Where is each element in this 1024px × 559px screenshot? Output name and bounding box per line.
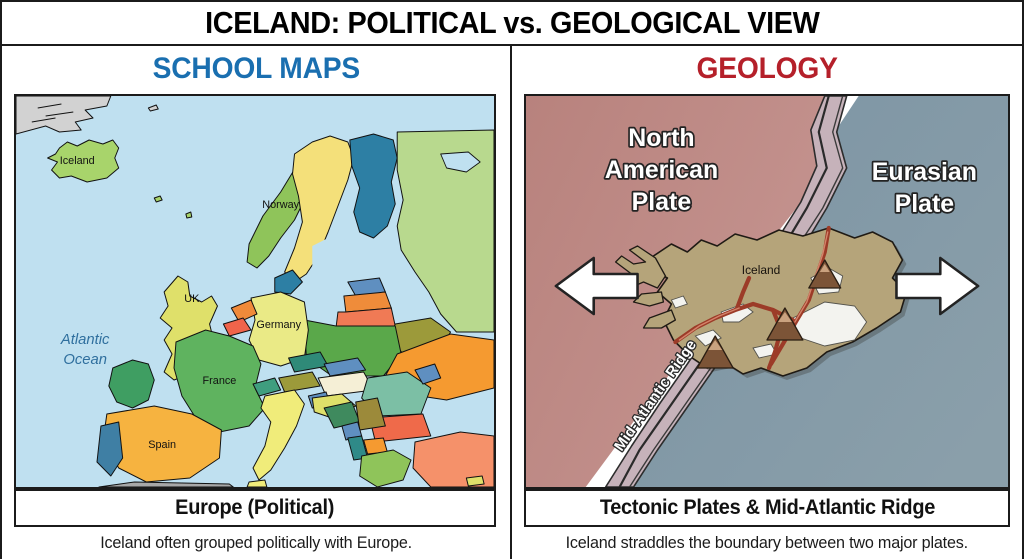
panel-heading-geology-label: GEOLOGY (696, 52, 837, 86)
map-label-norway: Norway (262, 199, 299, 211)
map-label-iceland: Iceland (60, 155, 95, 167)
caption-tectonic-plates: Tectonic Plates & Mid-Atlantic Ridge (599, 496, 934, 520)
panel-school-maps: SCHOOL MAPS (2, 46, 512, 559)
subcaption-europe-text: Iceland often grouped politically with E… (100, 533, 412, 553)
map-label-iceland-geology: Iceland (742, 263, 781, 277)
plate-label-plate-na: Plate (632, 188, 692, 216)
map-label-atlantic-ocean-line1: Atlantic (60, 332, 110, 348)
caption-box-europe: Europe (Political) (14, 489, 496, 527)
page-title: ICELAND: POLITICAL vs. GEOLOGICAL VIEW (205, 5, 819, 41)
panel-heading-geology: GEOLOGY (512, 46, 1022, 92)
caption-europe-political: Europe (Political) (176, 496, 335, 520)
panel-heading-school-maps-label: SCHOOL MAPS (152, 52, 359, 86)
panel-heading-school-maps: SCHOOL MAPS (2, 46, 510, 92)
map-label-germany: Germany (256, 319, 301, 331)
map-label-uk: UK (184, 293, 200, 305)
map-label-france: France (203, 375, 237, 387)
subcaption-geology-text: Iceland straddles the boundary between t… (566, 533, 968, 553)
caption-box-tectonic: Tectonic Plates & Mid-Atlantic Ridge (524, 489, 1010, 527)
subcaption-europe: Iceland often grouped politically with E… (2, 533, 510, 553)
map-label-atlantic-ocean-line2: Ocean (63, 352, 107, 368)
panel-geology: GEOLOGY (512, 46, 1022, 559)
island-cyprus (466, 476, 484, 486)
subcaption-geology: Iceland straddles the boundary between t… (512, 533, 1022, 553)
plate-label-eurasian: Eurasian (872, 158, 977, 186)
comparison-columns: SCHOOL MAPS (2, 46, 1022, 559)
tectonic-plates-map: Iceland North American Plate Eurasian Pl… (524, 94, 1010, 489)
infographic-root: ICELAND: POLITICAL vs. GEOLOGICAL VIEW S… (0, 0, 1024, 559)
plate-label-plate-eu: Plate (895, 190, 955, 218)
plate-label-american: American (605, 156, 718, 184)
title-bar: ICELAND: POLITICAL vs. GEOLOGICAL VIEW (2, 2, 1022, 46)
map-label-spain: Spain (148, 439, 176, 451)
europe-political-map: Iceland Norway UK Germany France Spain A… (14, 94, 496, 489)
country-ireland (109, 360, 154, 408)
plate-label-north: North (628, 124, 694, 152)
